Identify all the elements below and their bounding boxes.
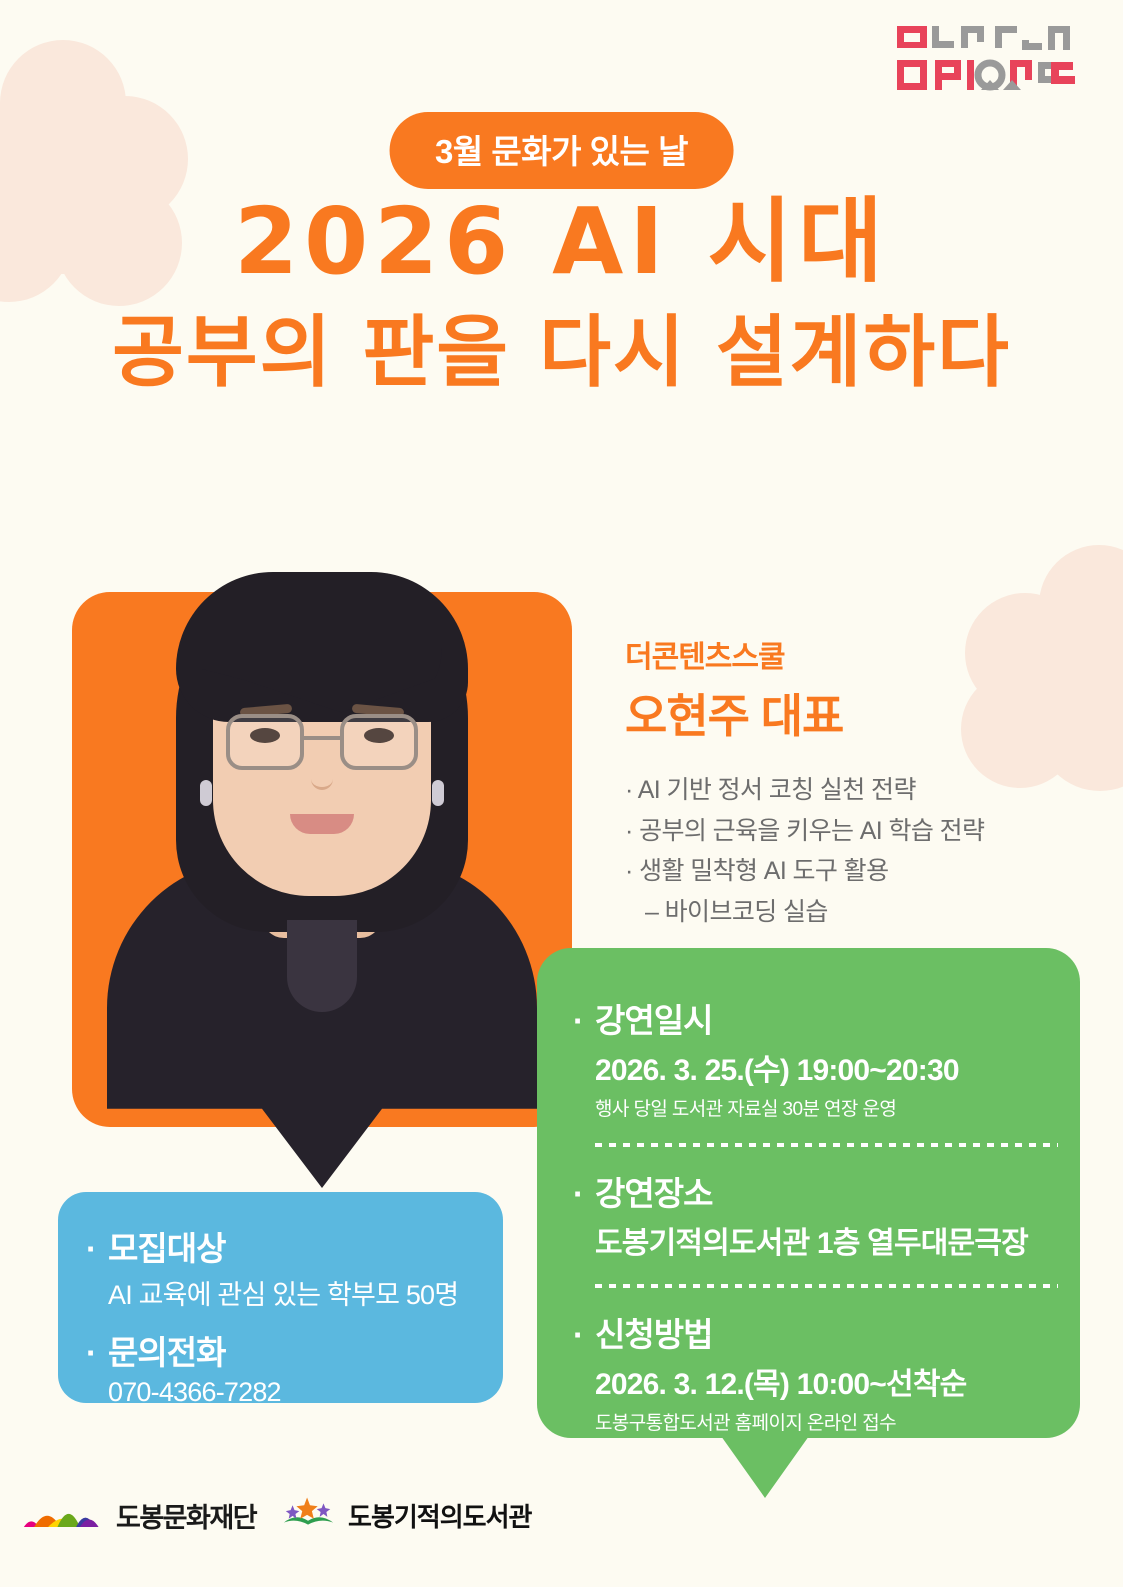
speaker-topic-list: · AI 기반 정서 코칭 실천 전략 · 공부의 근육을 키우는 AI 학습 … bbox=[625, 770, 1055, 932]
mountains-icon bbox=[22, 1497, 106, 1534]
speaker-name: 오현주 대표 bbox=[625, 680, 1055, 746]
field-note: 도봉구통합도서관 홈페이지 온라인 접수 bbox=[573, 1408, 1080, 1435]
glasses-lens-left bbox=[226, 714, 304, 770]
speaker-info: 더콘텐츠스쿨 오현주 대표 · AI 기반 정서 코칭 실천 전략 · 공부의 … bbox=[625, 632, 1055, 932]
field-value: 도봉기적의도서관 1층 열두대문극장 bbox=[573, 1218, 1080, 1262]
month-badge: 3월 문화가 있는 날 bbox=[389, 112, 734, 189]
speaker-organization: 더콘텐츠스쿨 bbox=[625, 632, 1055, 676]
munhwa-day-brand-logo bbox=[891, 18, 1081, 100]
field-lecture-venue: 강연장소 도봉기적의도서관 1층 열두대문극장 bbox=[573, 1167, 1080, 1262]
field-value: AI 교육에 관심 있는 학부모 50명 bbox=[86, 1273, 503, 1312]
green-card-tail bbox=[721, 1436, 809, 1498]
field-value: 2026. 3. 12.(목) 10:00~선착순 bbox=[573, 1359, 1080, 1403]
foundation-name: 도봉문화재단 bbox=[116, 1496, 256, 1535]
topic-item: · 공부의 근육을 키우는 AI 학습 전략 bbox=[625, 811, 1055, 852]
dobong-miracle-library-logo: 도봉기적의도서관 bbox=[280, 1493, 531, 1538]
glasses-bridge bbox=[304, 736, 340, 740]
speaker-portrait-photo bbox=[72, 528, 572, 1188]
field-label: 신청방법 bbox=[573, 1308, 1080, 1356]
topic-item: · AI 기반 정서 코칭 실천 전략 bbox=[625, 770, 1055, 811]
field-application-method: 신청방법 2026. 3. 12.(목) 10:00~선착순 도봉구통합도서관 … bbox=[573, 1308, 1080, 1435]
field-target-audience: 모집대상 AI 교육에 관심 있는 학부모 50명 bbox=[86, 1222, 503, 1312]
field-value: 070-4366-7282 bbox=[86, 1377, 503, 1408]
field-contact-phone: 문의전화 070-4366-7282 bbox=[86, 1326, 503, 1408]
page-title: 2026 AI 시대 공부의 판을 다시 설계하다 bbox=[0, 196, 1123, 392]
field-label: 강연일시 bbox=[573, 994, 1080, 1042]
field-lecture-datetime: 강연일시 2026. 3. 25.(수) 19:00~20:30 행사 당일 도… bbox=[573, 994, 1080, 1121]
dobong-foundation-logo: 도봉문화재단 bbox=[22, 1496, 256, 1535]
title-line-2: 공부의 판을 다시 설계하다 bbox=[0, 314, 1123, 392]
audience-contact-card: 모집대상 AI 교육에 관심 있는 학부모 50명 문의전화 070-4366-… bbox=[58, 1192, 503, 1403]
field-label: 강연장소 bbox=[573, 1167, 1080, 1215]
earring-left bbox=[200, 780, 212, 806]
event-details-card: 강연일시 2026. 3. 25.(수) 19:00~20:30 행사 당일 도… bbox=[537, 948, 1080, 1438]
earring-right bbox=[432, 780, 444, 806]
portrait-mouth bbox=[290, 814, 354, 834]
library-name: 도봉기적의도서관 bbox=[348, 1497, 531, 1534]
glasses-lens-right bbox=[340, 714, 418, 770]
field-label: 문의전화 bbox=[86, 1326, 503, 1374]
field-value: 2026. 3. 25.(수) 19:00~20:30 bbox=[573, 1045, 1080, 1089]
field-note: 행사 당일 도서관 자료실 30분 연장 운영 bbox=[573, 1094, 1080, 1121]
field-label: 모집대상 bbox=[86, 1222, 503, 1270]
open-book-star-icon bbox=[280, 1493, 338, 1538]
topic-item: – 바이브코딩 실습 bbox=[625, 892, 1055, 933]
topic-item: · 생활 밀착형 AI 도구 활용 bbox=[625, 851, 1055, 892]
footer-logos: 도봉문화재단 도봉기적의도서관 bbox=[22, 1493, 531, 1538]
portrait-nose bbox=[311, 756, 333, 790]
portrait-collar bbox=[287, 920, 357, 1012]
divider bbox=[595, 1143, 1058, 1147]
title-line-1: 2026 AI 시대 bbox=[0, 196, 1123, 288]
divider bbox=[595, 1284, 1058, 1288]
